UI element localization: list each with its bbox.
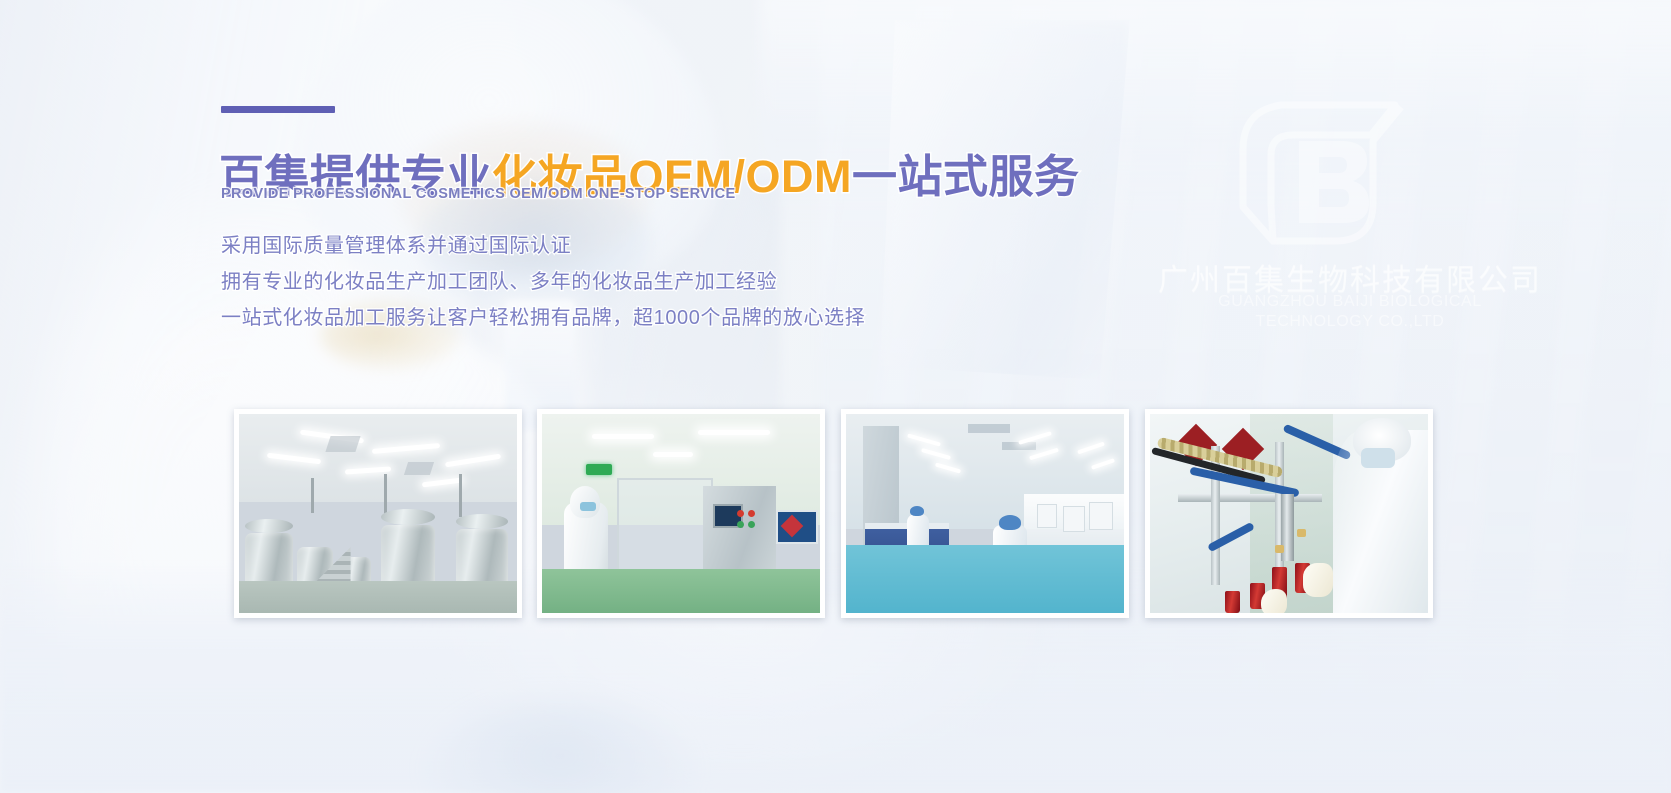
photo-gallery: [0, 0, 1671, 793]
photo4-bottle: [1225, 591, 1240, 613]
gallery-photo-1[interactable]: [234, 409, 522, 618]
photo2-lamp: [653, 452, 693, 457]
photo1-tank-lid: [381, 509, 435, 525]
photo1-pipe: [384, 474, 387, 518]
photo2-exit-sign-icon: [586, 464, 612, 475]
photo-1-image: [239, 414, 517, 613]
photo1-vent: [404, 462, 434, 475]
photo-3-image: [846, 414, 1124, 613]
photo3-instrument: [1037, 504, 1057, 528]
photo1-vent: [325, 436, 360, 452]
photo-2-image: [542, 414, 820, 613]
photo1-pipe: [311, 478, 314, 514]
photo1-tank-lid: [456, 514, 508, 529]
photo4-bottle-cap: [1275, 545, 1284, 553]
photo3-worker-cap: [910, 506, 924, 516]
gallery-photo-4[interactable]: [1145, 409, 1433, 618]
photo1-floor: [239, 581, 517, 613]
photo3-floor: [846, 545, 1124, 613]
photo2-filling-machine: [703, 486, 775, 582]
photo2-operator-mask: [580, 502, 596, 511]
gallery-photo-3[interactable]: [841, 409, 1129, 618]
photo4-bottle-cap: [1297, 529, 1306, 537]
photo3-instrument: [1063, 506, 1085, 532]
photo4-operator-mask: [1361, 448, 1395, 468]
photo2-floor: [542, 569, 820, 613]
photo4-glove: [1303, 563, 1333, 597]
photo1-tank-lid: [245, 519, 293, 533]
photo3-worker-cap: [999, 515, 1021, 530]
photo4-frame-rail: [1178, 494, 1323, 502]
gallery-photo-2[interactable]: [537, 409, 825, 618]
photo2-button: [748, 510, 755, 517]
photo3-instrument: [1089, 502, 1113, 530]
photo1-pipe: [459, 474, 462, 518]
photo2-lamp: [698, 430, 770, 435]
photo2-lamp: [592, 434, 654, 439]
photo-4-image: [1150, 414, 1428, 613]
photo2-button: [737, 510, 744, 517]
banner-root: 广州百集生物科技有限公司 GUANGZHOU BAIJI BIOLOGICAL …: [0, 0, 1671, 793]
photo3-air-duct: [968, 424, 1010, 433]
photo4-glove: [1261, 589, 1287, 613]
